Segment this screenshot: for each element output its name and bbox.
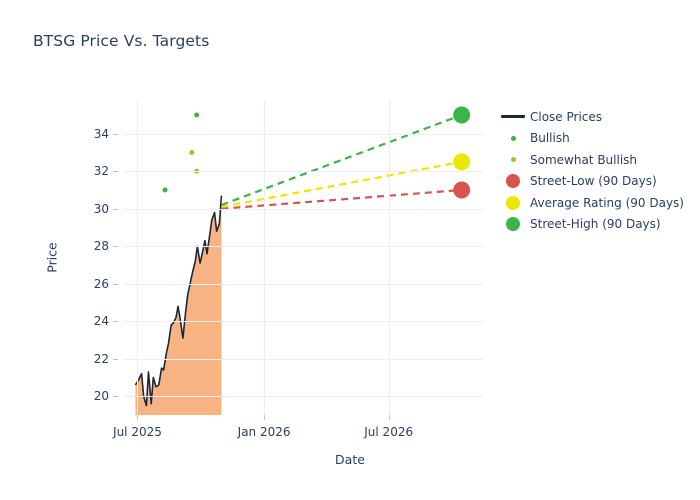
- legend-marker: [500, 136, 526, 141]
- legend-marker: [500, 196, 526, 210]
- target-marker-average-rating-days-[interactable]: [453, 153, 470, 170]
- y-tick-label: 30: [94, 202, 109, 216]
- gridline-horizontal: [123, 246, 483, 247]
- x-tick-mark: [389, 415, 390, 420]
- x-axis-label: Date: [0, 452, 700, 467]
- y-tick-label: 24: [94, 314, 109, 328]
- gridline-horizontal: [123, 134, 483, 135]
- x-tick-mark: [137, 415, 138, 420]
- target-line-street-high-days-: [221, 115, 461, 205]
- y-tick-label: 34: [94, 127, 109, 141]
- legend-label: Close Prices: [530, 110, 602, 124]
- y-axis-label: Price: [45, 198, 60, 318]
- y-tick-mark: [113, 284, 118, 285]
- x-tick-mark: [264, 415, 265, 420]
- rating-dot-bullish[interactable]: [162, 188, 167, 193]
- gridline-horizontal: [123, 359, 483, 360]
- legend-dot-swatch: [511, 157, 516, 162]
- rating-dot-bullish[interactable]: [194, 113, 199, 118]
- legend-label: Street-Low (90 Days): [530, 174, 657, 188]
- gridline-horizontal: [123, 396, 483, 397]
- legend-label: Average Rating (90 Days): [530, 196, 684, 210]
- legend-dot-swatch: [511, 136, 516, 141]
- y-tick-mark: [113, 171, 118, 172]
- legend-dot-swatch: [506, 196, 520, 210]
- y-tick-mark: [113, 396, 118, 397]
- legend-item[interactable]: Street-High (90 Days): [500, 214, 700, 236]
- legend-item[interactable]: Street-Low (90 Days): [500, 171, 700, 193]
- legend-marker: [500, 174, 526, 188]
- legend-item[interactable]: Somewhat Bullish: [500, 149, 700, 171]
- y-tick-label: 28: [94, 239, 109, 253]
- y-tick-mark: [113, 134, 118, 135]
- x-axis: Jul 2025Jan 2026Jul 2026: [123, 415, 483, 455]
- y-tick-label: 22: [94, 352, 109, 366]
- gridline-vertical: [137, 100, 138, 415]
- legend-item[interactable]: Close Prices: [500, 106, 700, 128]
- target-marker-street-high-days-[interactable]: [453, 107, 470, 124]
- rating-dot-somewhat-bullish[interactable]: [189, 150, 194, 155]
- legend-marker: [500, 217, 526, 231]
- gridline-vertical: [389, 100, 390, 415]
- legend-item[interactable]: Bullish: [500, 128, 700, 150]
- gridline-horizontal: [123, 209, 483, 210]
- legend-item[interactable]: Average Rating (90 Days): [500, 192, 700, 214]
- gridline-horizontal: [123, 321, 483, 322]
- y-tick-mark: [113, 321, 118, 322]
- legend-line-swatch: [501, 115, 525, 118]
- legend-dot-swatch: [506, 174, 520, 188]
- legend-label: Somewhat Bullish: [530, 153, 637, 167]
- gridline-horizontal: [123, 284, 483, 285]
- legend-marker: [500, 157, 526, 162]
- y-tick-mark: [113, 359, 118, 360]
- legend-marker: [500, 115, 526, 118]
- gridline-vertical: [264, 100, 265, 415]
- legend-dot-swatch: [506, 217, 520, 231]
- y-tick-mark: [113, 209, 118, 210]
- x-tick-label: Jan 2026: [238, 425, 291, 439]
- legend-label: Bullish: [530, 131, 570, 145]
- y-tick-label: 20: [94, 389, 109, 403]
- chart-legend: Close PricesBullishSomewhat BullishStree…: [500, 106, 700, 235]
- x-tick-label: Jul 2026: [364, 425, 413, 439]
- plot-area: [123, 100, 483, 415]
- gridline-horizontal: [123, 171, 483, 172]
- x-tick-label: Jul 2025: [113, 425, 162, 439]
- y-tick-label: 26: [94, 277, 109, 291]
- target-marker-street-low-days-[interactable]: [453, 182, 470, 199]
- y-tick-mark: [113, 246, 118, 247]
- chart-container: BTSG Price Vs. Targets 2022242628303234 …: [0, 0, 700, 500]
- series-layer: [123, 100, 483, 415]
- y-tick-label: 32: [94, 164, 109, 178]
- chart-title: BTSG Price Vs. Targets: [33, 32, 209, 50]
- legend-label: Street-High (90 Days): [530, 217, 661, 231]
